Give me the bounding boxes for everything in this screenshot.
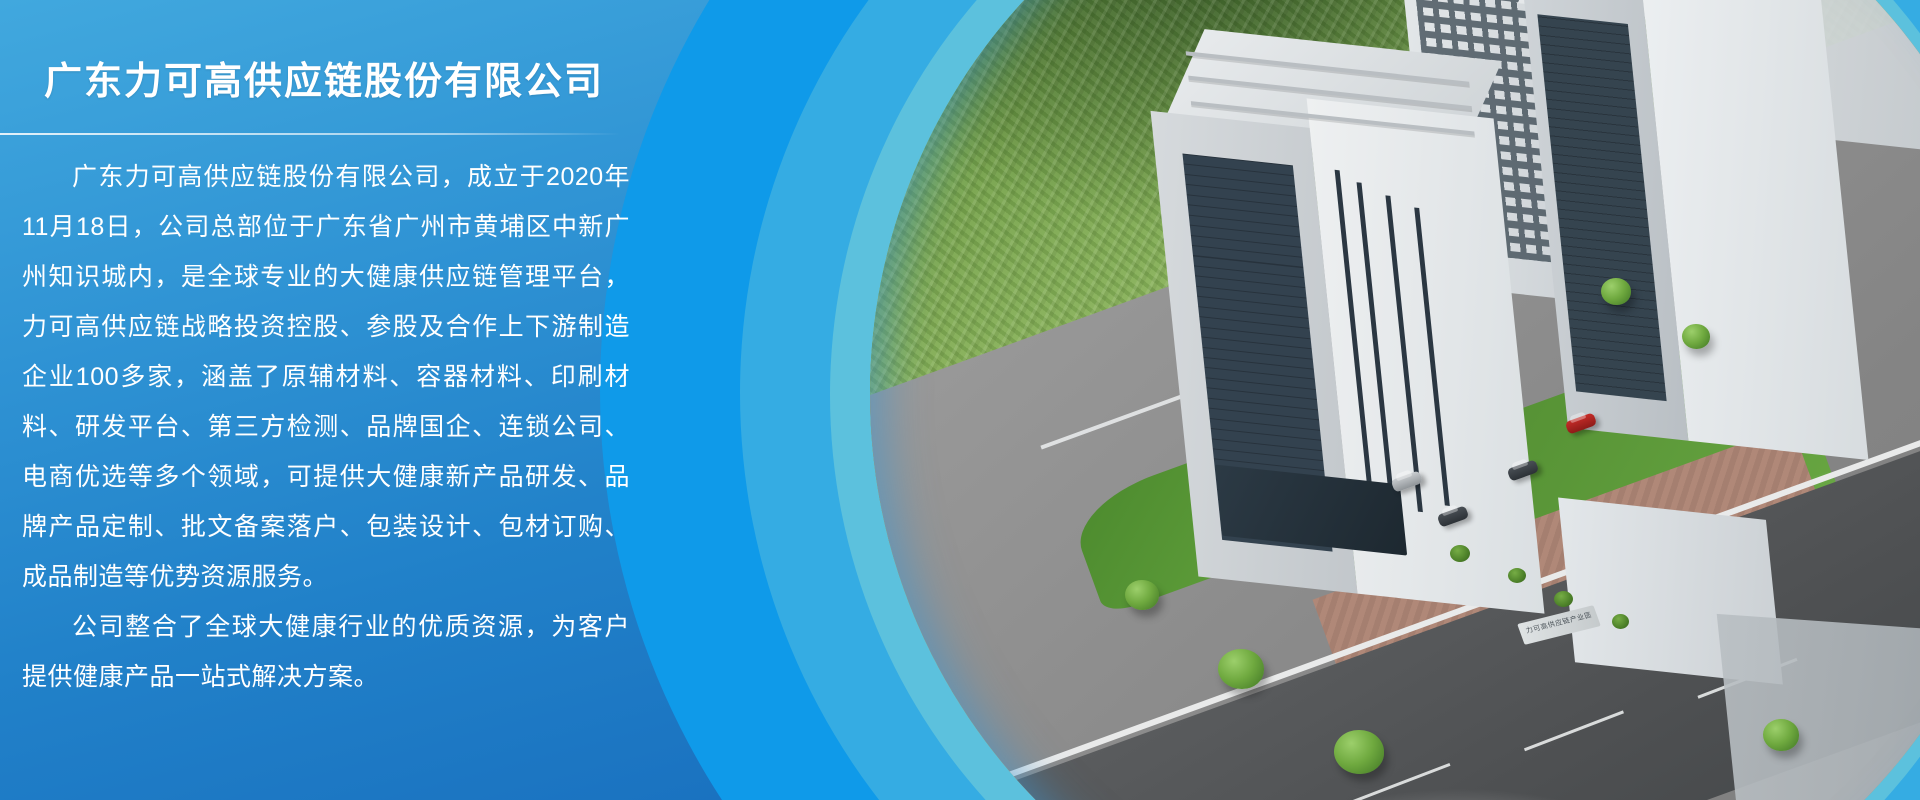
street-tree [1218,649,1264,689]
company-description: 广东力可高供应链股份有限公司，成立于2020年11月18日，公司总部位于广东省广… [22,152,630,702]
hero-banner: 力可高供应链产业园 广东力可高供应链股份有限公司 [0,0,1920,800]
warehouse-building [1717,614,1920,800]
street-tree [1334,730,1384,774]
shrub [1508,568,1526,583]
street-tree [1682,324,1710,349]
lane-marking [1524,710,1624,751]
street-tree [1763,719,1799,751]
facility-aerial-photo: 力可高供应链产业园 [870,0,1920,800]
paragraph-1: 广东力可高供应链股份有限公司，成立于2020年11月18日，公司总部位于广东省广… [22,152,630,602]
street-tree [1125,580,1159,610]
title-divider [0,133,620,135]
office-building-b [1519,0,1867,460]
intro-panel: 广东力可高供应链股份有限公司 广东力可高供应链股份有限公司，成立于2020年11… [0,0,660,800]
paragraph-2: 公司整合了全球大健康行业的优质资源，为客户提供健康产品一站式解决方案。 [22,602,630,702]
page-title: 广东力可高供应链股份有限公司 [44,50,604,105]
street-tree [1601,278,1631,305]
shrub [1450,545,1470,562]
